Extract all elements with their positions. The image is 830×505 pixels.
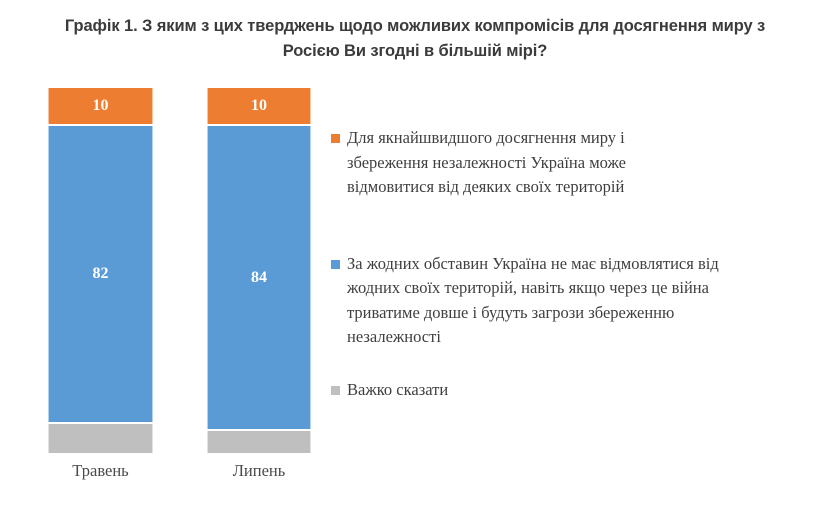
bar-segment-series1[interactable]: 10: [207, 88, 311, 124]
legend-item-label: Для якнайшвидшого досягнення миру і збер…: [347, 126, 697, 200]
legend-swatch-icon: [331, 134, 340, 143]
legend-swatch-icon: [331, 260, 340, 269]
plot-area: 10 82 10 84: [0, 80, 330, 460]
bar-column-lypen[interactable]: 10 84: [207, 80, 311, 460]
category-axis: Травень Липень: [0, 460, 330, 490]
legend-swatch-icon: [331, 386, 340, 395]
bar-value-label: 10: [251, 98, 267, 114]
bar-segment-series3[interactable]: [48, 424, 153, 453]
category-label-lypen: Липень: [207, 460, 311, 482]
chart-container: Графік 1. З яким з цих тверджень щодо мо…: [0, 0, 830, 505]
bar-segment-series3[interactable]: [207, 431, 311, 453]
bar-segment-series2[interactable]: 84: [207, 126, 311, 429]
chart-legend: Для якнайшвидшого досягнення миру і збер…: [331, 126, 801, 402]
legend-item-label: Важко сказати: [347, 378, 448, 403]
legend-item-series3[interactable]: Важко сказати: [331, 378, 801, 403]
bar-value-label: 10: [93, 98, 109, 114]
category-label-travent: Травень: [48, 460, 153, 482]
bar-value-label: 84: [251, 270, 267, 286]
bar-value-label: 82: [93, 266, 109, 282]
legend-item-label: За жодних обставин Україна не має відмов…: [347, 252, 772, 350]
bar-segment-series1[interactable]: 10: [48, 88, 153, 124]
legend-item-series1[interactable]: Для якнайшвидшого досягнення миру і збер…: [331, 126, 801, 200]
legend-item-series2[interactable]: За жодних обставин Україна не має відмов…: [331, 252, 801, 350]
bar-column-travent[interactable]: 10 82: [48, 80, 153, 460]
bar-stack: 10 82: [48, 88, 153, 453]
bar-segment-series2[interactable]: 82: [48, 126, 153, 422]
chart-title: Графік 1. З яким з цих тверджень щодо мо…: [55, 14, 775, 64]
bar-stack: 10 84: [207, 88, 311, 453]
